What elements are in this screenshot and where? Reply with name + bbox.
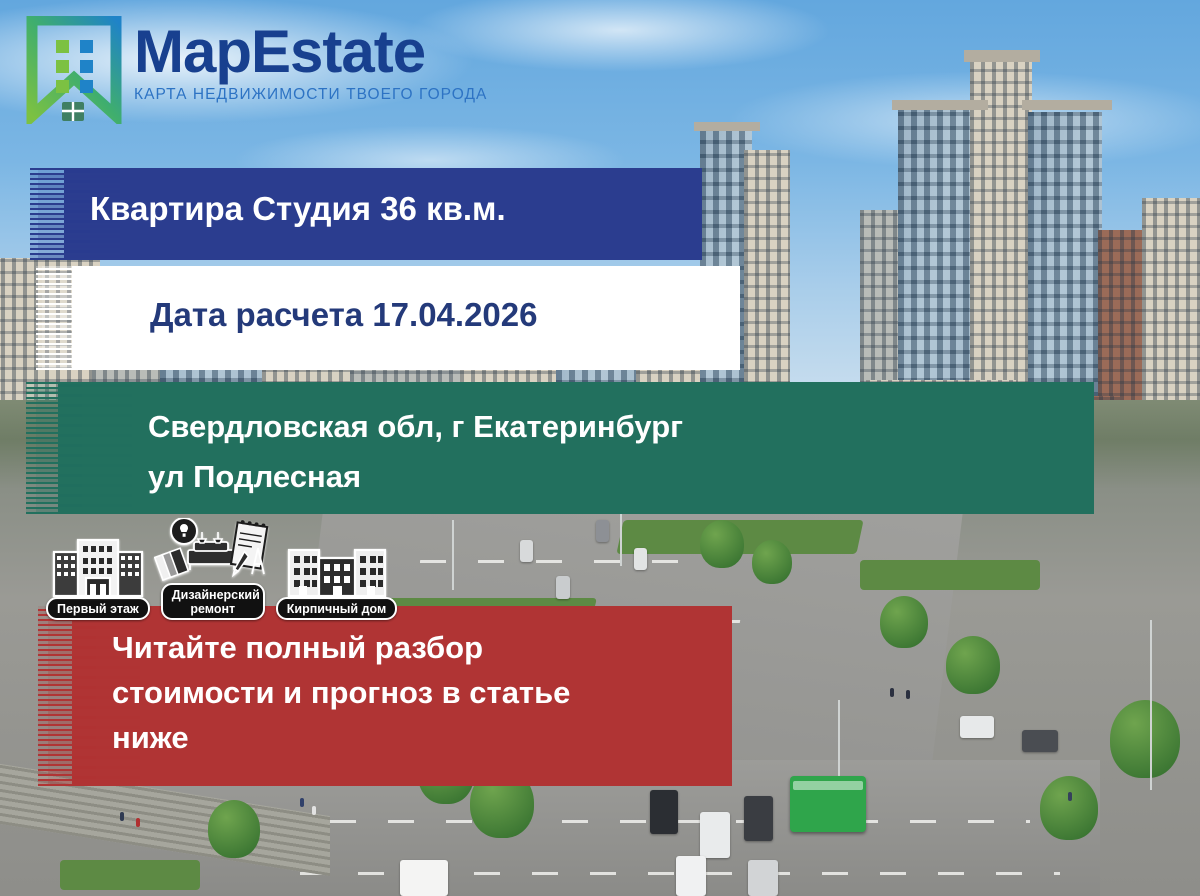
badge-designer-renovation[interactable]: Дизайнерский ремонт: [154, 518, 272, 620]
building-icon: [50, 536, 146, 603]
grass-strip-3: [860, 560, 1040, 590]
address-banner: Свердловская обл, г Екатеринбург ул Подл…: [36, 382, 1154, 514]
car: [700, 812, 730, 858]
address-line-1: Свердловская обл, г Екатеринбург: [148, 402, 683, 452]
pedestrian: [120, 812, 124, 821]
car: [960, 716, 994, 738]
title-banner: Квартира Студия 36 кв.м.: [38, 168, 750, 260]
cta-line-2: стоимости и прогноз в статье: [112, 671, 570, 716]
car: [744, 796, 773, 841]
car: [650, 790, 678, 834]
roof-slab-3: [964, 50, 1040, 62]
car: [634, 548, 647, 570]
pedestrian: [300, 798, 304, 807]
roof-slab-1: [694, 122, 760, 131]
pedestrian: [906, 690, 910, 699]
address-line-2: ул Подлесная: [148, 452, 683, 502]
pedestrian: [312, 806, 316, 815]
title-banner-text: Квартира Студия 36 кв.м.: [90, 190, 506, 228]
car: [556, 576, 570, 599]
tree: [208, 800, 260, 858]
car: [596, 520, 609, 542]
cta-banner: Читайте полный разбор стоимости и прогно…: [48, 606, 788, 786]
pedestrian: [136, 818, 140, 827]
tree: [700, 520, 744, 568]
feature-badges: Первый этаж: [46, 518, 397, 620]
brand-tagline: КАРТА НЕДВИЖИМОСТИ ТВОЕГО ГОРОДА: [134, 86, 487, 104]
street-light: [1150, 620, 1152, 790]
badge-brick-house[interactable]: Кирпичный дом: [276, 538, 397, 620]
car: [520, 540, 533, 562]
street-light: [620, 506, 622, 566]
date-banner-text: Дата расчета 17.04.2026: [150, 296, 537, 334]
date-banner: Дата расчета 17.04.2026: [42, 266, 794, 370]
tree: [880, 596, 928, 648]
tree: [1110, 700, 1180, 778]
cta-line-1: Читайте полный разбор: [112, 626, 570, 671]
bus: [790, 776, 866, 832]
brick-building-icon: [285, 538, 389, 603]
car: [748, 860, 778, 896]
bookmark-building-icon: [26, 16, 122, 124]
tree: [752, 540, 792, 584]
interior-design-icon: [154, 518, 272, 589]
car: [1022, 730, 1058, 752]
roof-slab-2: [892, 100, 988, 110]
car: [676, 856, 706, 896]
pedestrian: [890, 688, 894, 697]
pedestrian: [1068, 792, 1072, 801]
brand-logo[interactable]: MapEstate КАРТА НЕДВИЖИМОСТИ ТВОЕГО ГОРО…: [26, 16, 487, 124]
badge-first-floor[interactable]: Первый этаж: [46, 536, 150, 620]
lane-marking-3: [420, 560, 740, 563]
cta-line-3: ниже: [112, 716, 570, 761]
roof-slab-4: [1022, 100, 1112, 110]
brand-name: MapEstate: [134, 22, 487, 82]
tree: [946, 636, 1000, 694]
grass-strip-4: [60, 860, 200, 890]
lane-marking-1: [330, 820, 1030, 823]
van: [400, 860, 448, 896]
tree: [1040, 776, 1098, 840]
street-light: [452, 520, 454, 590]
